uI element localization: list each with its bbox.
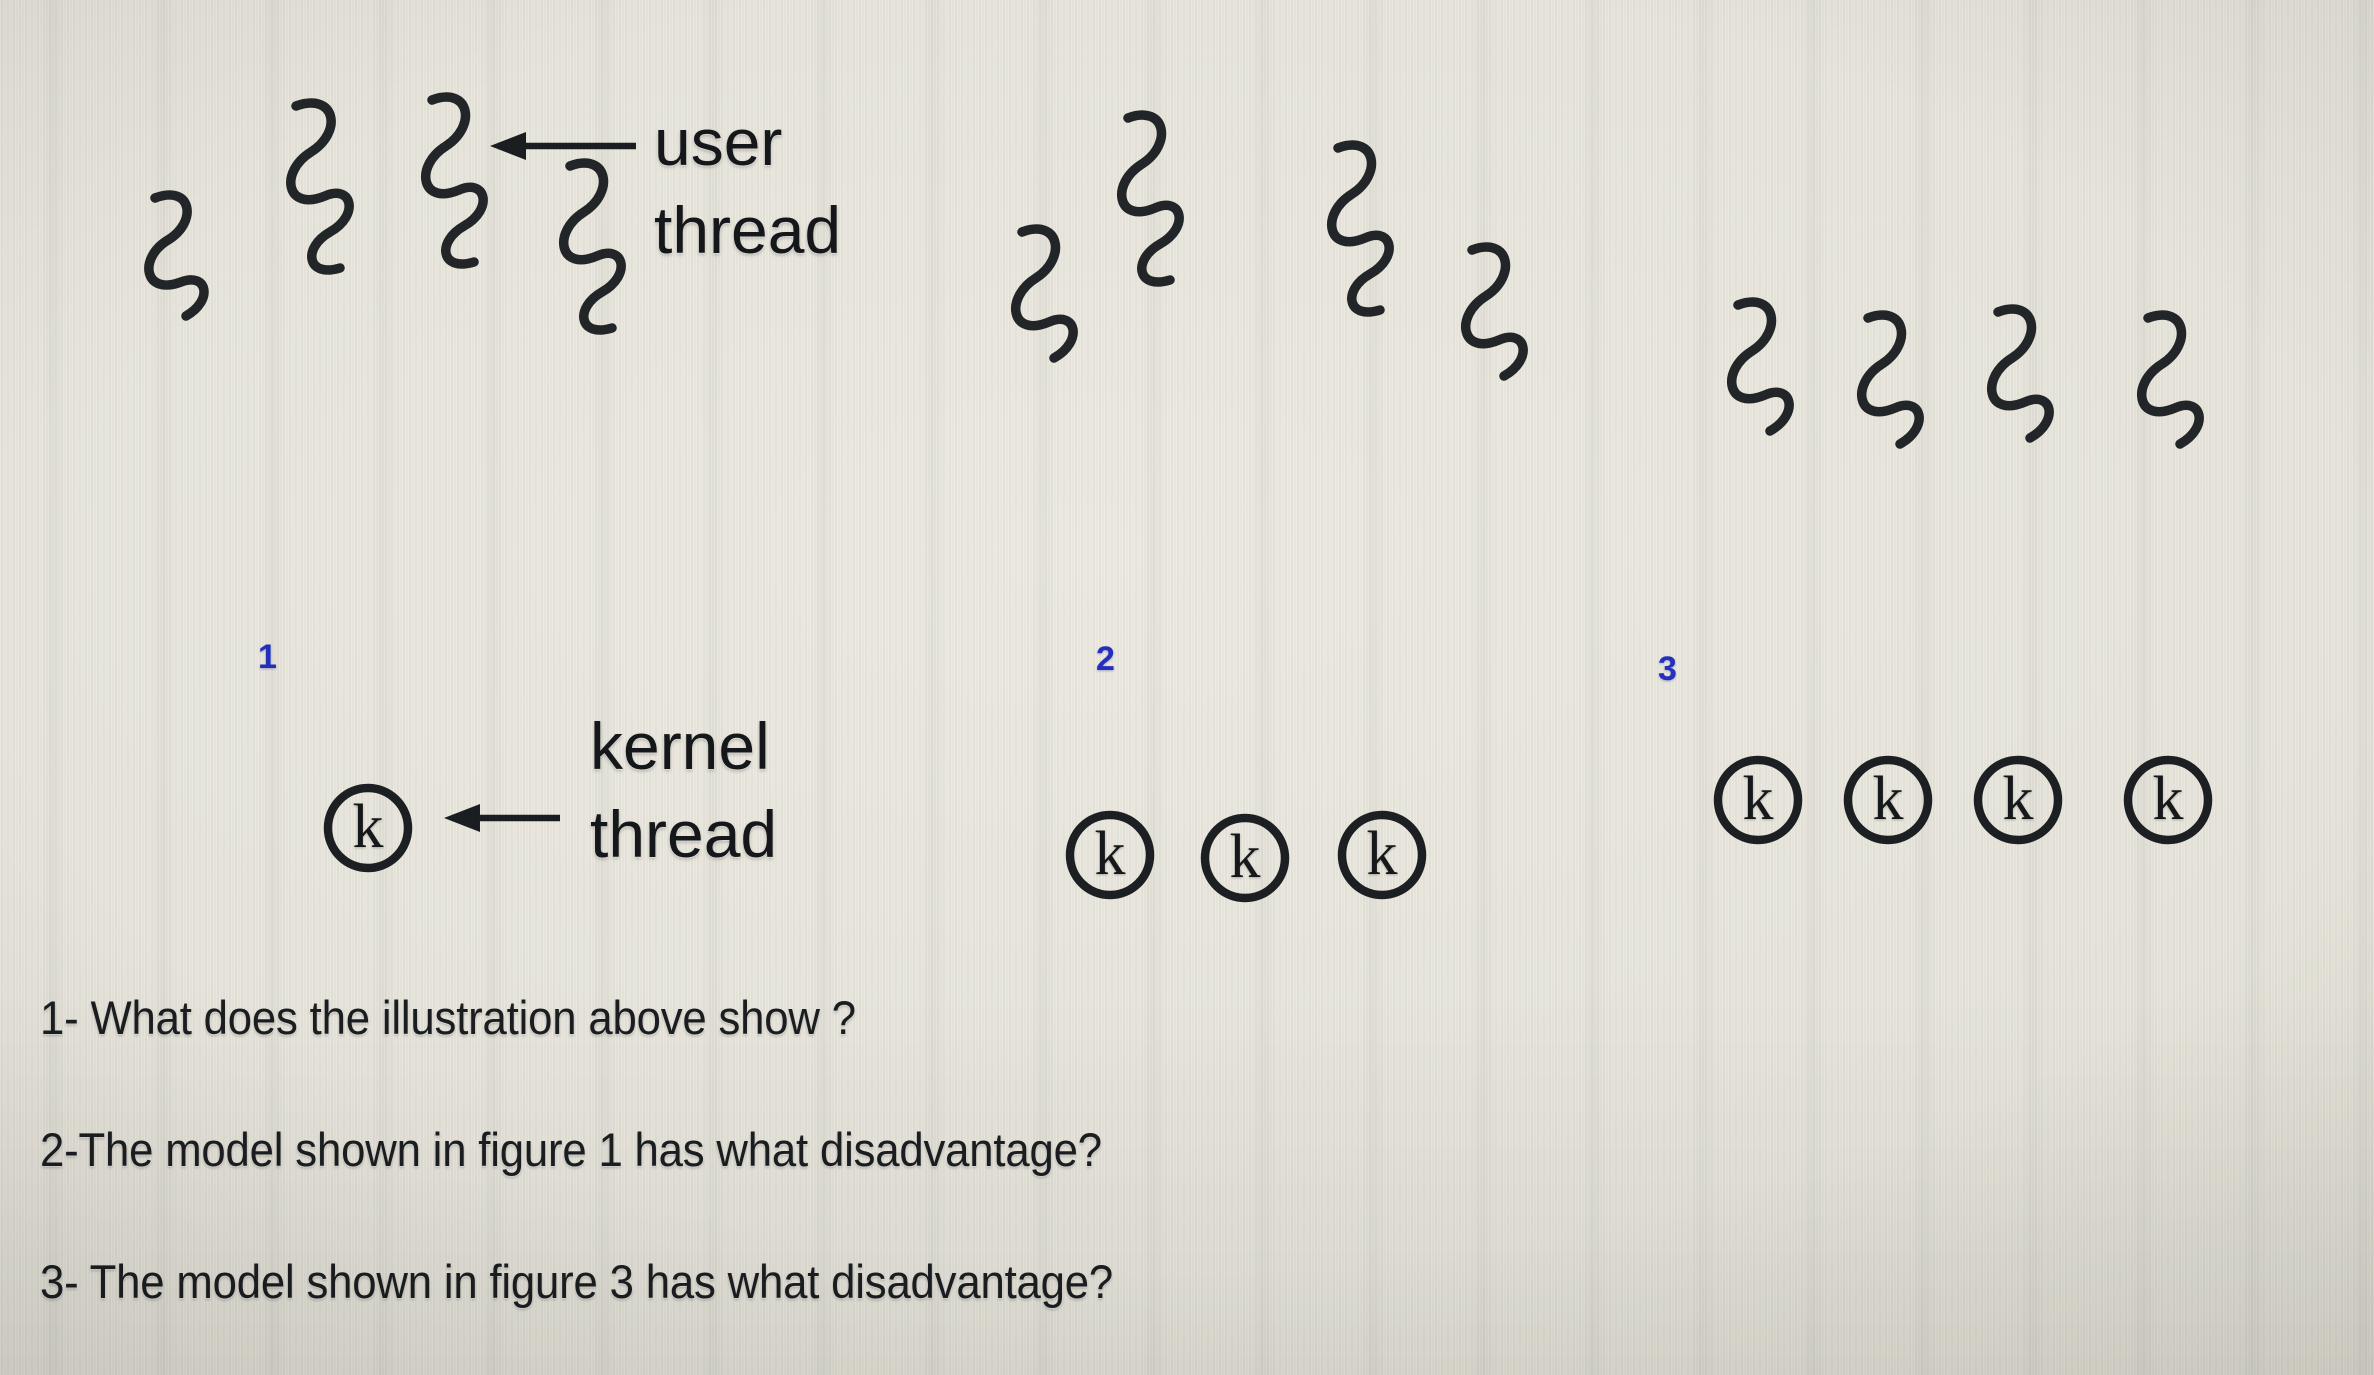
user-thread-label-line1: user	[654, 108, 782, 177]
kernel-thread-label-line1: kernel	[590, 712, 770, 781]
screenshot-root: k k k k k k k k user thread kernel threa…	[0, 0, 2374, 1375]
user-thread-label-line2: thread	[654, 196, 841, 265]
figure-number-2: 2	[1096, 640, 1115, 679]
kernel-symbol: k	[338, 796, 398, 858]
kernel-symbol: k	[1215, 826, 1275, 888]
kernel-thread-label-line2: thread	[590, 800, 777, 869]
kernel-symbol: k	[1352, 823, 1412, 885]
kernel-symbol: k	[1988, 768, 2048, 830]
kernel-symbol: k	[1728, 768, 1788, 830]
question-1: 1- What does the illustration above show…	[40, 990, 856, 1045]
kernel-symbol: k	[2138, 768, 2198, 830]
figure-number-3: 3	[1658, 650, 1677, 689]
question-2: 2-The model shown in figure 1 has what d…	[40, 1122, 1102, 1177]
question-3: 3- The model shown in figure 3 has what …	[40, 1254, 1113, 1309]
kernel-symbol: k	[1080, 823, 1140, 885]
figure-number-1: 1	[258, 638, 277, 677]
kernel-symbol: k	[1858, 768, 1918, 830]
